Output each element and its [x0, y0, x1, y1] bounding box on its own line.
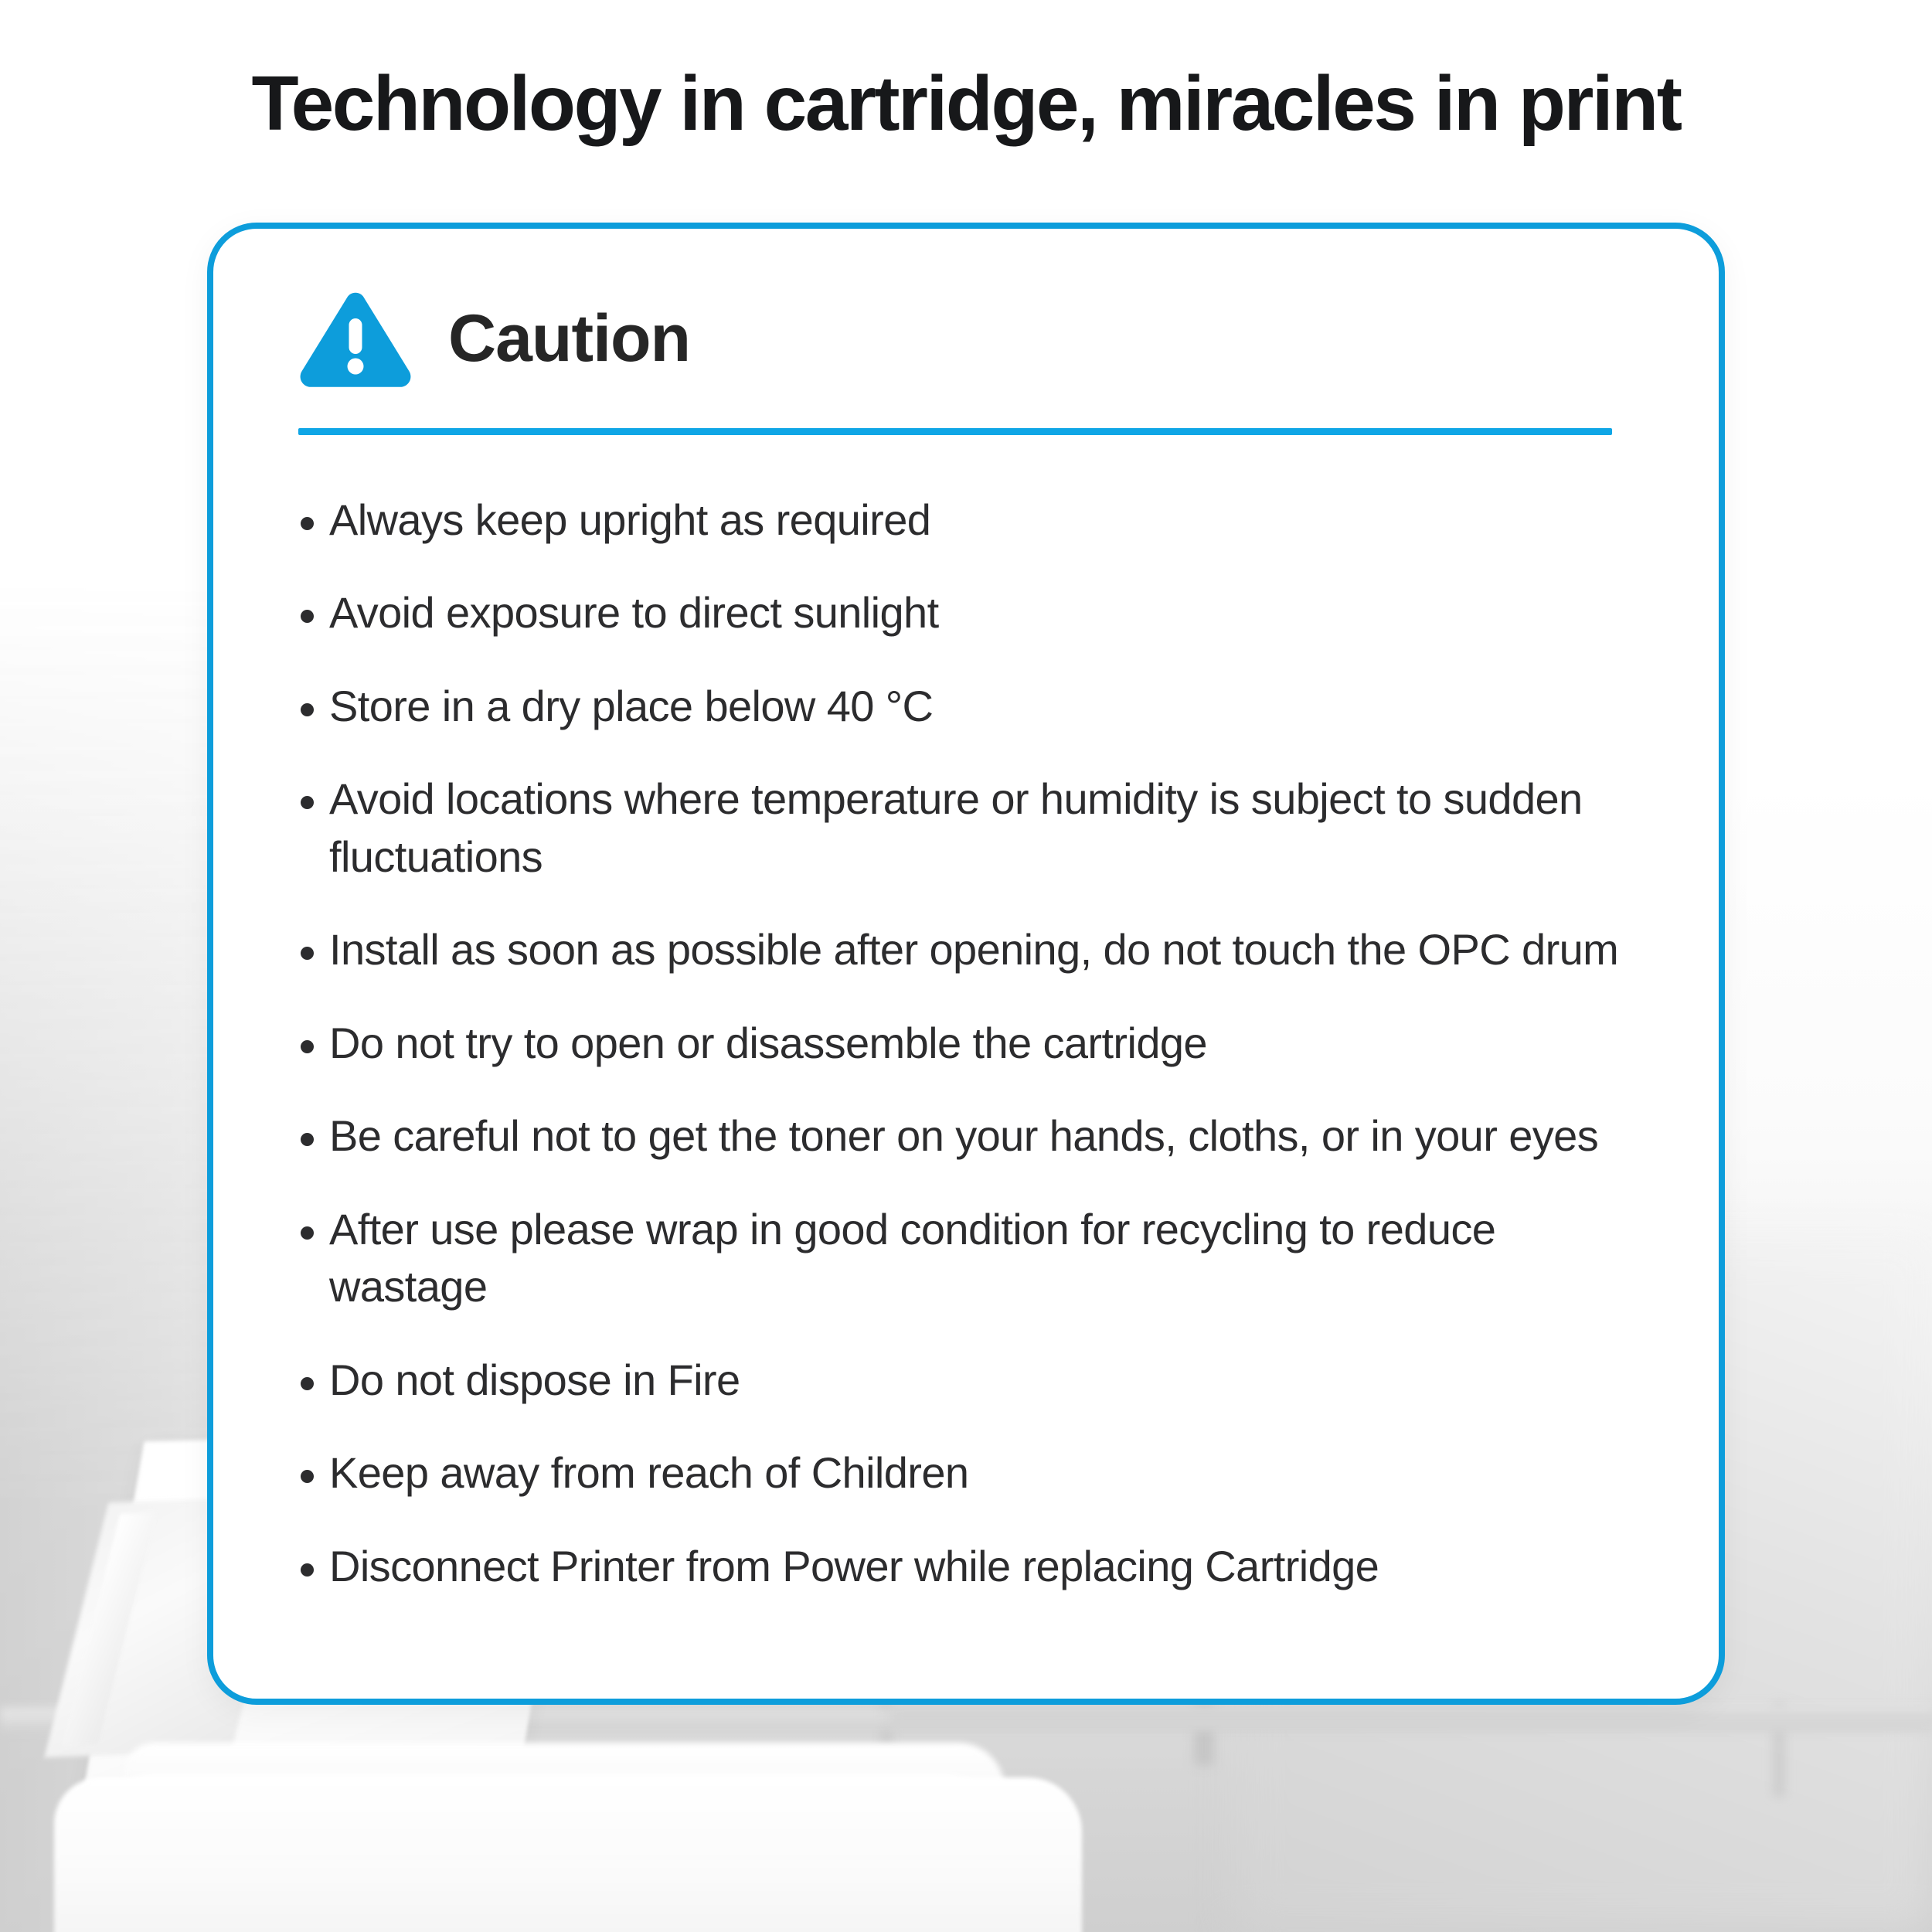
- list-item-label: Disconnect Printer from Power while repl…: [329, 1538, 1628, 1595]
- bullet-icon: [301, 610, 314, 623]
- list-item-label: After use please wrap in good condition …: [329, 1201, 1628, 1316]
- caution-divider: [298, 428, 1612, 435]
- caution-card: Caution Always keep upright as required …: [207, 223, 1725, 1705]
- list-item-label: Keep away from reach of Children: [329, 1444, 1628, 1502]
- caution-header: Caution: [298, 291, 690, 391]
- list-item: Do not dispose in Fire: [298, 1352, 1641, 1409]
- bullet-icon: [301, 1563, 314, 1577]
- bullet-icon: [301, 1377, 314, 1390]
- bullet-icon: [301, 947, 314, 960]
- list-item-label: Avoid locations where temperature or hum…: [329, 770, 1628, 886]
- background-desk-line: [889, 1709, 1932, 1725]
- list-item-label: Always keep upright as required: [329, 492, 1628, 549]
- page-title: Technology in cartridge, miracles in pri…: [0, 63, 1932, 145]
- caution-list: Always keep upright as required Avoid ex…: [298, 492, 1641, 1595]
- list-item: Install as soon as possible after openin…: [298, 921, 1641, 978]
- list-item-label: Be careful not to get the toner on your …: [329, 1107, 1628, 1165]
- warning-triangle-icon: [298, 291, 413, 391]
- bullet-icon: [301, 517, 314, 530]
- list-item: Avoid exposure to direct sunlight: [298, 584, 1641, 641]
- bullet-icon: [301, 703, 314, 716]
- bullet-icon: [301, 796, 314, 809]
- list-item-label: Avoid exposure to direct sunlight: [329, 584, 1628, 641]
- list-item: Be careful not to get the toner on your …: [298, 1107, 1641, 1165]
- caution-title: Caution: [448, 305, 690, 376]
- list-item: Store in a dry place below 40 °C: [298, 678, 1641, 735]
- list-item: After use please wrap in good condition …: [298, 1201, 1641, 1316]
- list-item-label: Do not try to open or disassemble the ca…: [329, 1015, 1628, 1072]
- list-item: Avoid locations where temperature or hum…: [298, 770, 1641, 886]
- list-item-label: Do not dispose in Fire: [329, 1352, 1628, 1409]
- bullet-icon: [301, 1133, 314, 1146]
- list-item-label: Store in a dry place below 40 °C: [329, 678, 1628, 735]
- list-item-label: Install as soon as possible after openin…: [329, 921, 1628, 978]
- bullet-icon: [301, 1226, 314, 1240]
- printer-body: [54, 1777, 1082, 1932]
- list-item: Do not try to open or disassemble the ca…: [298, 1015, 1641, 1072]
- list-item: Keep away from reach of Children: [298, 1444, 1641, 1502]
- bullet-icon: [301, 1040, 314, 1053]
- list-item: Always keep upright as required: [298, 492, 1641, 549]
- bullet-icon: [301, 1470, 314, 1483]
- list-item: Disconnect Printer from Power while repl…: [298, 1538, 1641, 1595]
